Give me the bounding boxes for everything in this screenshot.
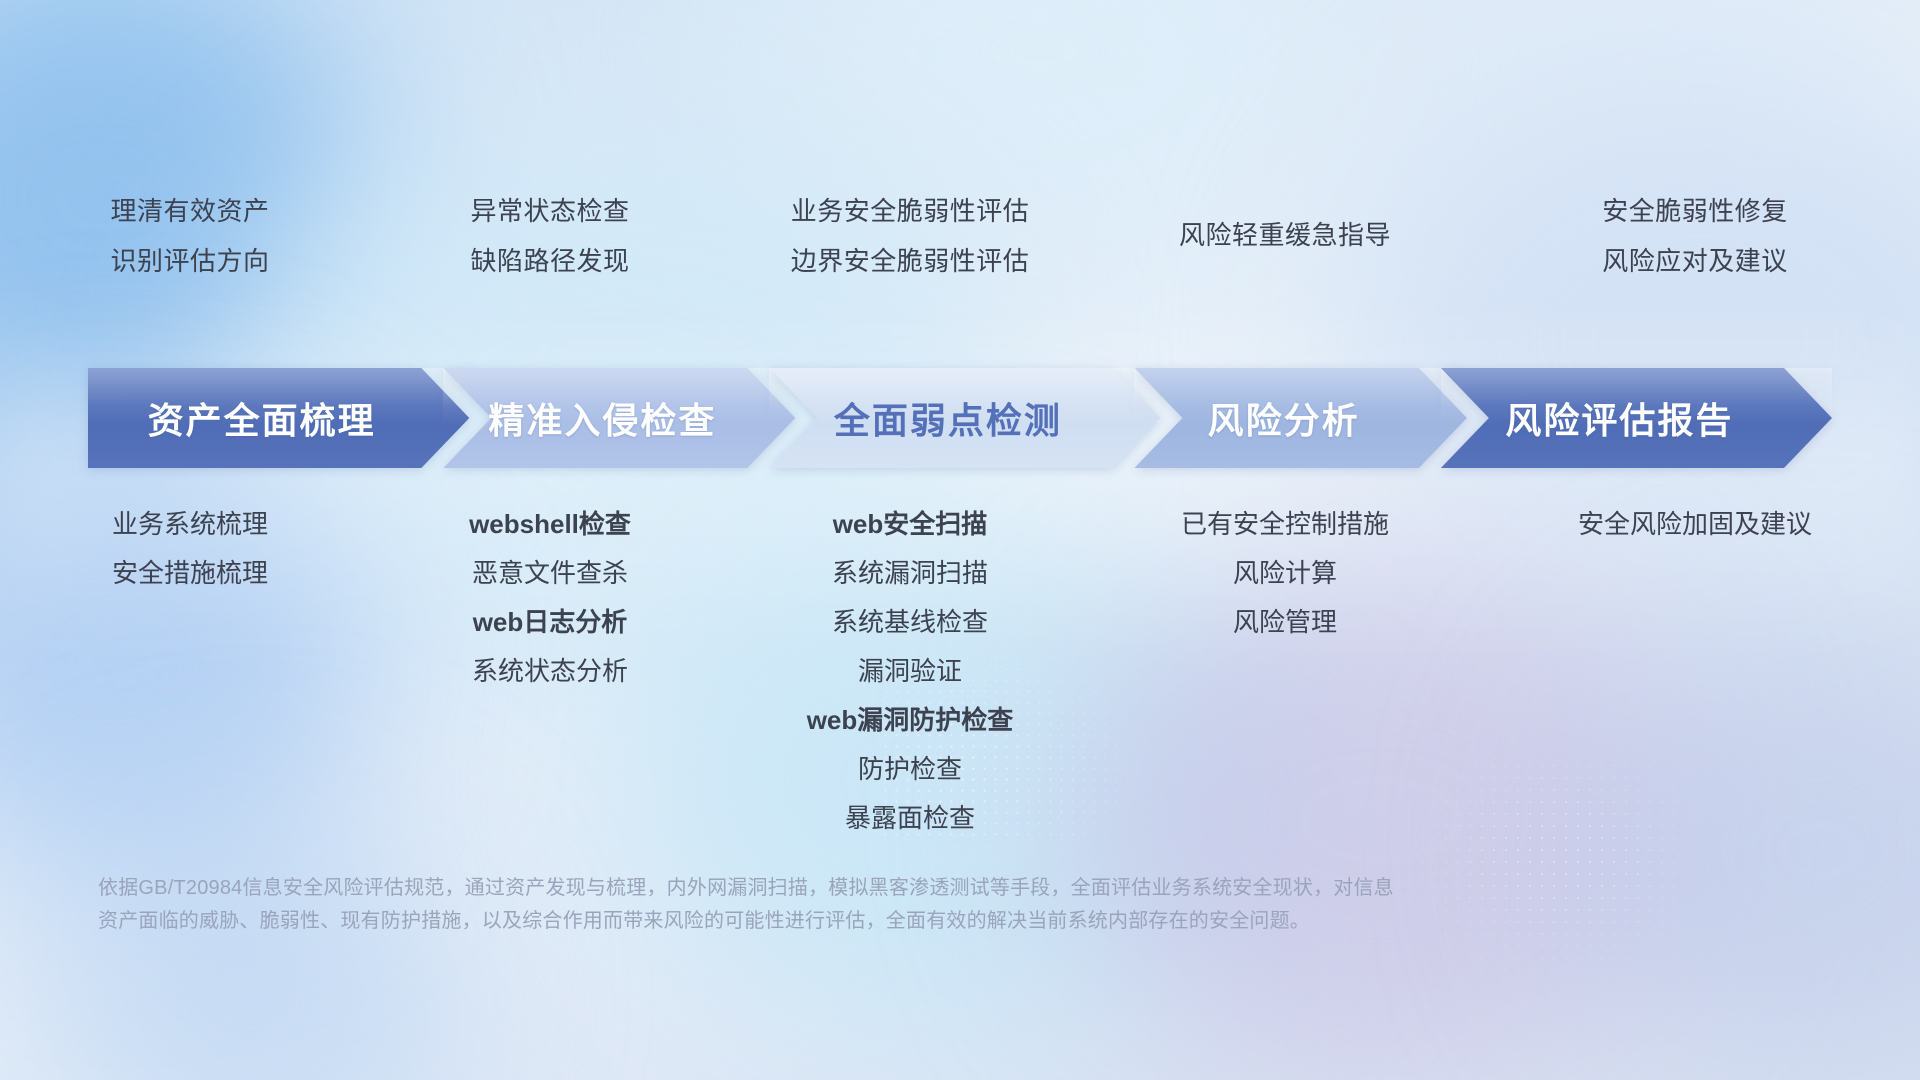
stage-activities-1: 业务系统梳理 安全措施梳理 <box>0 500 380 840</box>
outcome-text: 业务安全脆弱性评估 <box>791 186 1030 236</box>
activity-item: web漏洞防护检查 <box>807 696 1014 745</box>
stage-outcomes-row: 理清有效资产 识别评估方向 异常状态检查 缺陷路径发现 业务安全脆弱性评估 边界… <box>0 186 1920 306</box>
outcome-text: 风险轻重缓急指导 <box>1179 210 1391 260</box>
activity-item: 风险管理 <box>1233 598 1337 647</box>
stage-activities-row: 业务系统梳理 安全措施梳理 webshell检查 恶意文件查杀 web日志分析 … <box>0 500 1920 840</box>
activity-item: 业务系统梳理 <box>112 500 268 549</box>
outcome-text: 识别评估方向 <box>110 236 269 286</box>
outcome-text: 安全脆弱性修复 <box>1602 186 1788 236</box>
chevron-label: 全面弱点检测 <box>834 392 1096 444</box>
stage-outcomes-3: 业务安全脆弱性评估 边界安全脆弱性评估 <box>720 186 1100 306</box>
footer-description: 依据GB/T20984信息安全风险评估规范，通过资产发现与梳理，内外网漏洞扫描，… <box>98 872 1658 938</box>
process-diagram: 理清有效资产 识别评估方向 异常状态检查 缺陷路径发现 业务安全脆弱性评估 边界… <box>0 0 1920 1080</box>
footer-line-1: 依据GB/T20984信息安全风险评估规范，通过资产发现与梳理，内外网漏洞扫描，… <box>98 872 1658 905</box>
stage-activities-2: webshell检查 恶意文件查杀 web日志分析 系统状态分析 <box>380 500 720 840</box>
chevron-label: 风险评估报告 <box>1505 392 1767 444</box>
activity-item: 系统漏洞扫描 <box>832 549 988 598</box>
activity-item: 漏洞验证 <box>858 647 962 696</box>
activity-item: 风险计算 <box>1233 549 1337 598</box>
activity-item: 已有安全控制措施 <box>1181 500 1389 549</box>
stage-activities-3: web安全扫描 系统漏洞扫描 系统基线检查 漏洞验证 web漏洞防护检查 防护检… <box>720 500 1100 840</box>
activity-item: 防护检查 <box>858 745 962 794</box>
activity-item: web安全扫描 <box>833 500 988 549</box>
activity-item: 安全风险加固及建议 <box>1578 500 1812 549</box>
activity-item: webshell检查 <box>469 500 631 549</box>
stage-outcomes-2: 异常状态检查 缺陷路径发现 <box>380 186 720 306</box>
activity-item: 系统基线检查 <box>832 598 988 647</box>
chevron-label: 精准入侵检查 <box>488 392 750 444</box>
stage-outcomes-1: 理清有效资产 识别评估方向 <box>0 186 380 306</box>
activity-item: 系统状态分析 <box>472 647 628 696</box>
outcome-text: 理清有效资产 <box>110 186 269 236</box>
chevron-label: 资产全面梳理 <box>148 392 410 444</box>
stage-outcomes-4: 风险轻重缓急指导 <box>1100 186 1470 306</box>
chevron-stage-2[interactable]: 精准入侵检查 <box>443 368 795 468</box>
outcome-text: 边界安全脆弱性评估 <box>791 236 1030 286</box>
stage-activities-5: 安全风险加固及建议 <box>1470 500 1920 840</box>
stage-outcomes-5: 安全脆弱性修复 风险应对及建议 <box>1470 186 1920 306</box>
stage-chevron-banner: 资产全面梳理 精准入侵检查 全面弱点检测 风险分析 风险评估报告 <box>88 368 1832 468</box>
activity-item: 暴露面检查 <box>845 794 975 843</box>
activity-item: 恶意文件查杀 <box>472 549 628 598</box>
activity-item: web日志分析 <box>473 598 628 647</box>
chevron-stage-3[interactable]: 全面弱点检测 <box>769 368 1160 468</box>
activity-item: 安全措施梳理 <box>112 549 268 598</box>
chevron-stage-1[interactable]: 资产全面梳理 <box>88 368 469 468</box>
outcome-text: 风险应对及建议 <box>1602 236 1788 286</box>
chevron-stage-5[interactable]: 风险评估报告 <box>1441 368 1832 468</box>
footer-line-2: 资产面临的威胁、脆弱性、现有防护措施，以及综合作用而带来风险的可能性进行评估，全… <box>98 905 1658 938</box>
chevron-label: 风险分析 <box>1208 392 1394 444</box>
chevron-stage-4[interactable]: 风险分析 <box>1134 368 1466 468</box>
outcome-text: 缺陷路径发现 <box>470 236 629 286</box>
outcome-text: 异常状态检查 <box>470 186 629 236</box>
stage-activities-4: 已有安全控制措施 风险计算 风险管理 <box>1100 500 1470 840</box>
